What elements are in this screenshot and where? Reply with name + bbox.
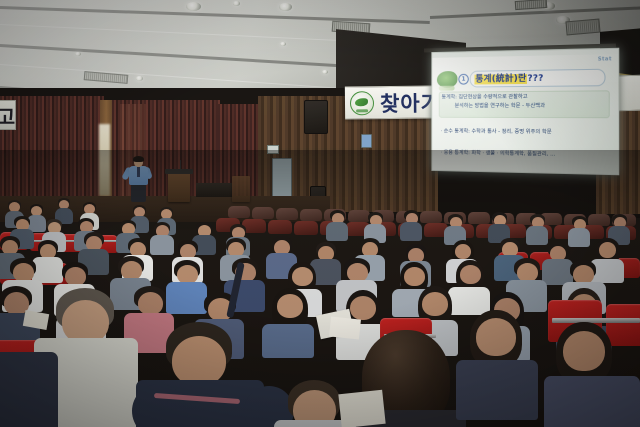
microphone-stand bbox=[180, 160, 181, 171]
handout-paper bbox=[329, 316, 361, 339]
slide-title: 통계(統計)란??? bbox=[474, 71, 543, 85]
banner-far-left-text: 고 bbox=[0, 101, 15, 130]
wall-speaker bbox=[304, 100, 328, 134]
slide-definition: 통계학: 집단현상을 수량적으로 관찰하고 분석하는 방법을 연구하는 학문 -… bbox=[442, 92, 608, 111]
wall-panel-plate bbox=[272, 158, 292, 200]
podium-top bbox=[165, 169, 193, 174]
presenter bbox=[127, 157, 151, 203]
slide-bullets: · 순수 통계학: 수학과 통사 - 정리, 증명 위주의 학문 · 응용 통계… bbox=[441, 127, 610, 173]
presenter-legs bbox=[131, 184, 146, 202]
slide-bullet-1: · 응용 통계학: 화학 · 생물 · 의학통계학, 품질관리, … bbox=[441, 148, 610, 159]
banner-far-left: 고 bbox=[0, 100, 16, 130]
slide-definition-line2: 분석하는 방법을 연구하는 학문 - 두산백과 bbox=[442, 102, 608, 111]
podium bbox=[168, 172, 190, 202]
stage-side-door-light bbox=[99, 124, 110, 196]
auditorium-photo: 고 찾아가는 드제고 Stat 1 통계(統計)란??? 통계학: 집단현상을 … bbox=[0, 0, 640, 427]
podium-secondary bbox=[232, 176, 250, 202]
presenter-hair bbox=[133, 156, 144, 162]
presentation-slide: Stat 1 통계(統計)란??? 통계학: 집단현상을 수량적으로 관찰하고 … bbox=[432, 49, 618, 174]
slide-bullet-0: · 순수 통계학: 수학과 통사 - 정리, 증명 위주의 학문 bbox=[441, 127, 610, 136]
slide-title-suffix: ??? bbox=[527, 74, 543, 84]
presenter-tie bbox=[137, 167, 140, 177]
slide-leaf-icon bbox=[437, 71, 458, 88]
slide-page-number: 1 bbox=[458, 74, 468, 85]
banner-main: 찾아가는 bbox=[345, 86, 433, 120]
slide-title-highlight: 통계(統計)란 bbox=[474, 74, 527, 85]
banner-main-text: 찾아가는 bbox=[380, 87, 433, 118]
wall-info-plate bbox=[361, 134, 372, 148]
green-leaf-emblem-icon bbox=[350, 91, 374, 115]
handout-paper bbox=[338, 390, 385, 427]
stage-side-table bbox=[196, 183, 232, 197]
projection-screen: Stat 1 통계(統計)란??? 통계학: 집단현상을 수량적으로 관찰하고 … bbox=[431, 48, 619, 176]
exit-sign bbox=[267, 145, 279, 154]
slide-brand-logo: Stat bbox=[598, 56, 612, 62]
